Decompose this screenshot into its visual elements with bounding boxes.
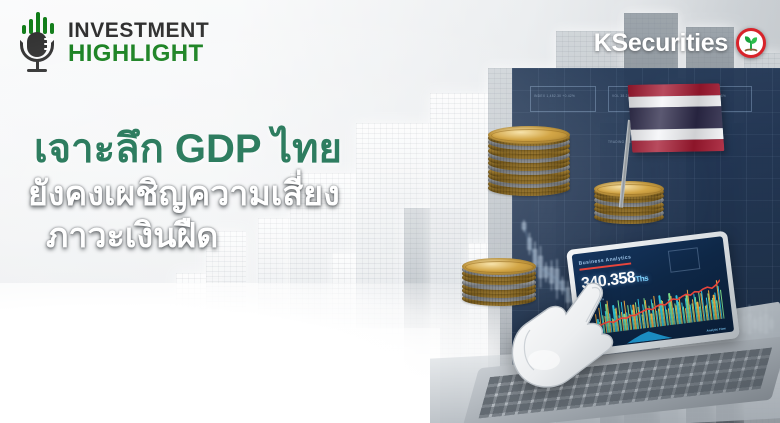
flag-cloth <box>628 83 725 152</box>
logo-line-1: INVESTMENT <box>68 20 209 41</box>
ksecurities-wordmark: KSecurities <box>594 29 728 58</box>
thailand-flag <box>604 78 722 208</box>
mic-base <box>27 69 47 72</box>
chart-legend: Analytic Flow <box>706 326 726 332</box>
chart-mini-panel <box>668 247 700 272</box>
sound-bar <box>50 23 54 34</box>
microphone-icon <box>14 12 60 74</box>
investment-highlight-banner: INDEX 1,482.30 +0.42% VOL 38.2M +1.07% S… <box>0 0 780 423</box>
headline-line-2: ยังคงเผชิญความเสี่ยง <box>28 176 498 212</box>
sound-bar <box>36 12 40 34</box>
coin-top-face <box>488 126 570 144</box>
logo-wordmark: INVESTMENT HIGHLIGHT <box>68 20 209 66</box>
mic-arc <box>20 40 54 62</box>
sound-bars-icon <box>22 12 56 34</box>
logo-line-2: HIGHLIGHT <box>68 42 209 66</box>
headline-line-3: ภาวะเงินฝืด <box>46 218 498 254</box>
ksecurities-logo[interactable]: KSecurities <box>594 28 766 58</box>
sound-bar <box>22 25 26 34</box>
sound-bar <box>43 17 47 34</box>
investment-highlight-logo[interactable]: INVESTMENT HIGHLIGHT <box>14 12 209 74</box>
green-sprout-in-red-circle-icon <box>736 28 766 58</box>
robotic-hand-icon <box>496 268 626 398</box>
headline-line-1: เจาะลึก GDP ไทย <box>34 128 498 170</box>
chart-area-sparkline <box>626 328 673 344</box>
headline-block: เจาะลึก GDP ไทย ยังคงเผชิญความเสี่ยง ภาว… <box>28 128 498 254</box>
white-desk-fade-2 <box>0 328 440 423</box>
